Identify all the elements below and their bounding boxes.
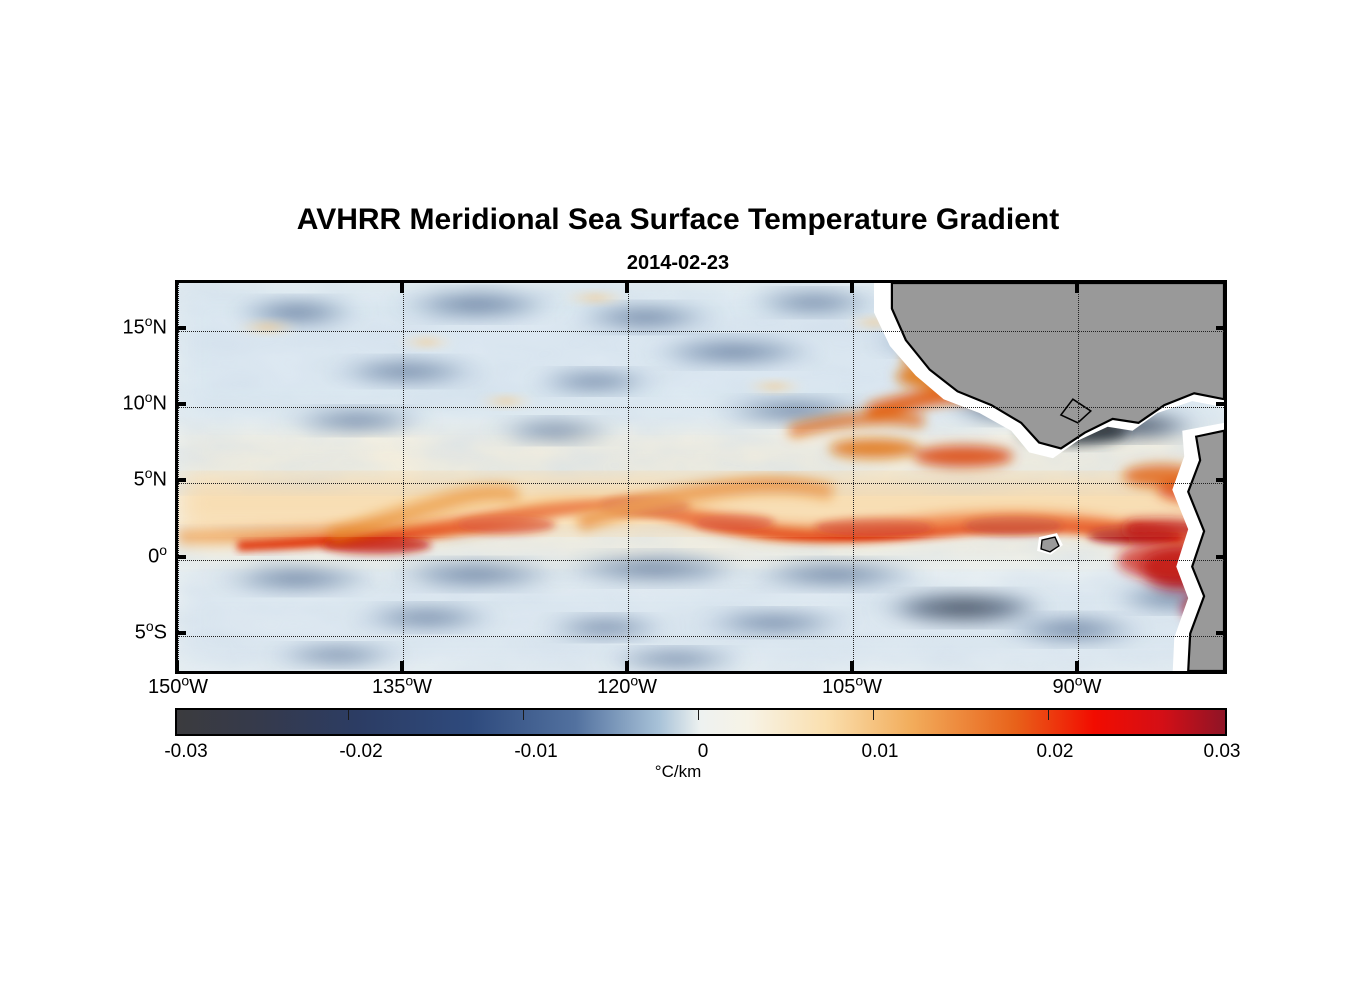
colorbar-label-p003: 0.03	[1204, 741, 1241, 763]
ytick-mark-right-5s	[1216, 631, 1227, 635]
colorbar-tick-p002	[1048, 710, 1049, 720]
colorbar-label-0: 0	[698, 741, 709, 763]
xtick-label-105w: 105oW	[822, 676, 882, 699]
ytick-label-5s: 5oS	[135, 622, 167, 645]
xtick-label-120w: 120oW	[597, 676, 657, 699]
ytick-mark-5s	[175, 631, 186, 635]
ytick-label-0: 0o	[148, 546, 167, 569]
ytick-label-10n: 10oN	[123, 393, 168, 416]
colorbar	[175, 708, 1227, 736]
ytick-mark-0	[175, 555, 186, 559]
colorbar-tick-n002	[348, 710, 349, 720]
sst-gradient-heatmap	[178, 283, 1224, 671]
xtick-label-135w: 135oW	[372, 676, 432, 699]
ytick-label-15n: 15oN	[123, 317, 168, 340]
colorbar-label-p001: 0.01	[862, 741, 899, 763]
colorbar-tick-n001	[523, 710, 524, 720]
colorbar-tick-p001	[873, 710, 874, 720]
ytick-mark-right-0	[1216, 555, 1227, 559]
xtick-mark-105w	[850, 661, 854, 674]
xtick-label-150w: 150oW	[148, 676, 208, 699]
sst-gradient-field	[178, 283, 1224, 671]
figure-subtitle: 2014-02-23	[0, 252, 1356, 275]
ytick-mark-right-10n	[1216, 402, 1227, 406]
colorbar-label-n001: -0.01	[514, 741, 557, 763]
xtick-label-90w: 90oW	[1053, 676, 1102, 699]
xtick-mark-top-105w	[850, 280, 854, 293]
xtick-mark-150w	[175, 661, 179, 674]
xtick-mark-120w	[625, 661, 629, 674]
ytick-label-5n: 5oN	[134, 469, 167, 492]
colorbar-label-n002: -0.02	[339, 741, 382, 763]
page-title: AVHRR Meridional Sea Surface Temperature…	[0, 203, 1356, 237]
ytick-mark-5n	[175, 478, 186, 482]
xtick-mark-top-135w	[400, 280, 404, 293]
xtick-mark-top-120w	[625, 280, 629, 293]
colorbar-unit-label: °C/km	[0, 762, 1356, 782]
ytick-mark-right-15n	[1216, 326, 1227, 330]
colorbar-label-n003: -0.03	[164, 741, 207, 763]
colorbar-gradient	[177, 710, 1225, 734]
xtick-mark-top-90w	[1075, 280, 1079, 293]
ytick-mark-15n	[175, 326, 186, 330]
xtick-mark-135w	[400, 661, 404, 674]
colorbar-label-p002: 0.02	[1037, 741, 1074, 763]
map-axes	[175, 280, 1227, 674]
ytick-mark-10n	[175, 402, 186, 406]
ytick-mark-right-5n	[1216, 478, 1227, 482]
figure-canvas: AVHRR Meridional Sea Surface Temperature…	[0, 0, 1356, 1000]
colorbar-tick-0	[698, 710, 699, 720]
